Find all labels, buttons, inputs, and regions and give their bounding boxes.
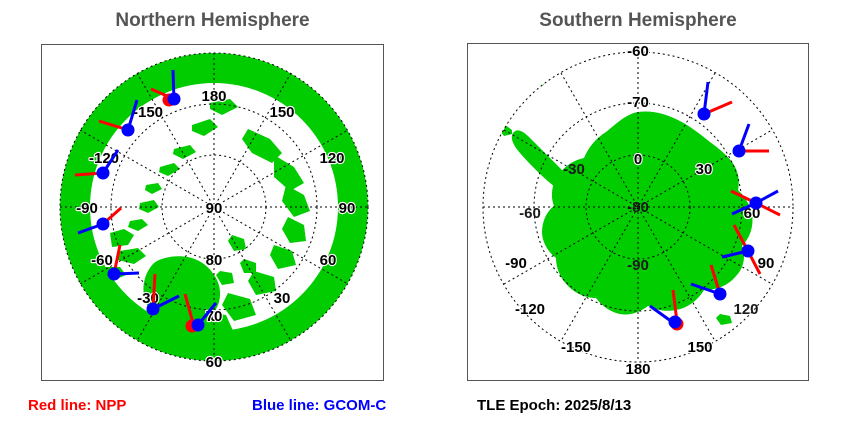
sat-pass-n2 (99, 100, 137, 137)
northern-panel-title: Northern Hemisphere (41, 10, 384, 32)
figure-root: Northern Hemisphere (0, 0, 850, 425)
northern-plot-frame: 180 150 120 90 60 30 0 -30 -60 -90 -120 … (41, 44, 384, 381)
sat-pass-s3 (731, 191, 780, 215)
sat-pass-n6 (147, 274, 180, 316)
sat-pass-s4 (722, 225, 760, 274)
legend-blue-line: Blue line: GCOM-C (252, 397, 386, 414)
southern-satellite-markers (468, 44, 808, 380)
sat-pass-s5 (691, 265, 727, 301)
northern-satellite-markers (42, 45, 383, 380)
sat-pass-s6 (650, 290, 684, 331)
sat-pass-n5 (108, 245, 140, 281)
southern-plot-frame: -60 -70 0 30 60 90 120 150 180 -150 -120… (467, 43, 809, 381)
sat-pass-n3 (75, 150, 118, 180)
legend-tle-epoch: TLE Epoch: 2025/8/13 (477, 397, 631, 414)
sat-pass-n4 (78, 208, 121, 233)
sat-pass-n7 (185, 294, 216, 333)
southern-panel-title: Southern Hemisphere (467, 10, 809, 32)
legend-red-line: Red line: NPP (28, 397, 126, 414)
sat-pass-s2 (733, 124, 770, 158)
sat-pass-s1 (698, 82, 733, 121)
sat-pass-n1 (151, 70, 181, 107)
